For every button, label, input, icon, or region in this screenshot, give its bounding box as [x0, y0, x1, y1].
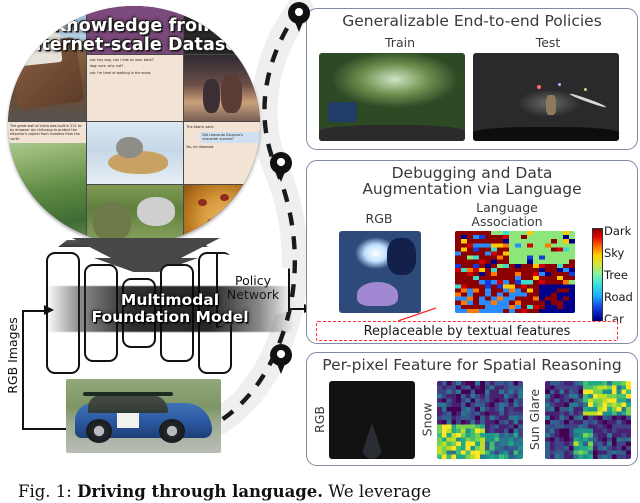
- colorbar-label-tree: Tree: [604, 268, 628, 282]
- input-line-bottom: [22, 428, 72, 430]
- perpixel-sunglare-label: Sun Glare: [527, 379, 543, 459]
- language-colorbar: [592, 228, 603, 326]
- language-association-heatmap: [455, 231, 575, 313]
- chat-bubbles-titanic: The titanic sank. Did Leonardo Dicaprio'…: [184, 122, 260, 184]
- language-association-label-line1: Language: [437, 201, 577, 214]
- caption-prefix: Fig. 1:: [18, 482, 77, 501]
- replaceable-note: Replaceable by textual features: [316, 321, 618, 341]
- map-pin-policies: [288, 2, 310, 32]
- meme-caption: de on the side of the: [8, 6, 86, 13]
- panel-perpixel-feature: Per-pixel Feature for Spatial Reasoning …: [306, 352, 638, 466]
- perpixel-rgb-image: [329, 381, 415, 459]
- panel-debug-title-line2: Augmentation via Language: [307, 181, 637, 197]
- caption-rest: We leverage: [323, 482, 431, 501]
- meme-caption-wall: The great wall of china was built in 221…: [8, 122, 86, 142]
- caption-bold: Driving through language.: [77, 482, 323, 501]
- figure-root: de on the side of the cat: hey dog, can …: [0, 0, 640, 503]
- colorbar-label-road: Road: [604, 290, 633, 304]
- chat-bubbles: cat: hey dog, can i ride on your back? d…: [87, 55, 183, 122]
- train-label: Train: [335, 35, 465, 50]
- meme-titanic-photo: [184, 55, 260, 122]
- knowledge-circle-title: Knowledge from Internet-scale Dataset: [8, 17, 260, 54]
- test-image-nighttime-road: [473, 53, 619, 141]
- perpixel-rgb-label: RGB: [311, 379, 327, 459]
- colorbar-label-dark: Dark: [604, 224, 631, 238]
- map-pin-debug: [270, 152, 292, 182]
- input-line-vertical: [22, 310, 24, 430]
- perpixel-snow-label: Snow: [419, 379, 435, 459]
- meme-great-wall: The great wall of china was built in 221…: [8, 122, 86, 244]
- knowledge-circle: de on the side of the cat: hey dog, can …: [8, 6, 260, 244]
- meme-chicken: He is scared of the chicken because it i…: [87, 185, 183, 244]
- figure-caption: Fig. 1: Driving through language. We lev…: [18, 482, 622, 501]
- rgb-images-label: RGB Images: [4, 300, 20, 410]
- panel-perpixel-title: Per-pixel Feature for Spatial Reasoning: [307, 357, 637, 373]
- sunglare-feature-heatmap: [545, 381, 631, 459]
- colorbar-label-sky: Sky: [604, 246, 624, 260]
- meme-catdog-photo: [87, 122, 183, 184]
- meme-titanic-qa: The titanic sank. Did Leonardo Dicaprio'…: [184, 122, 260, 184]
- language-association-label-line2: Association: [437, 215, 577, 228]
- meme-catdog-chat: cat: hey dog, can i ride on your back? d…: [87, 55, 183, 122]
- train-image-daytime-road: [319, 53, 465, 141]
- test-label: Test: [483, 35, 613, 50]
- panel-debugging-augmentation: Debugging and Data Augmentation via Lang…: [306, 160, 638, 344]
- panel-debug-title-line1: Debugging and Data: [307, 165, 637, 181]
- map-pin-perpixel: [270, 344, 292, 374]
- snow-feature-heatmap: [437, 381, 523, 459]
- debug-rgb-image: [339, 231, 421, 313]
- panel-generalizable-policies: Generalizable End-to-end Policies Train …: [306, 8, 638, 150]
- panel-policies-title: Generalizable End-to-end Policies: [307, 13, 637, 29]
- research-vehicle-photo: [66, 379, 221, 453]
- model-label: Multimodal Foundation Model: [58, 292, 282, 327]
- meme-pizza: Place the pizza dough on a sheet, brush …: [184, 185, 260, 244]
- debug-rgb-label: RGB: [325, 211, 433, 226]
- replaceable-note-text: Replaceable by textual features: [364, 324, 571, 339]
